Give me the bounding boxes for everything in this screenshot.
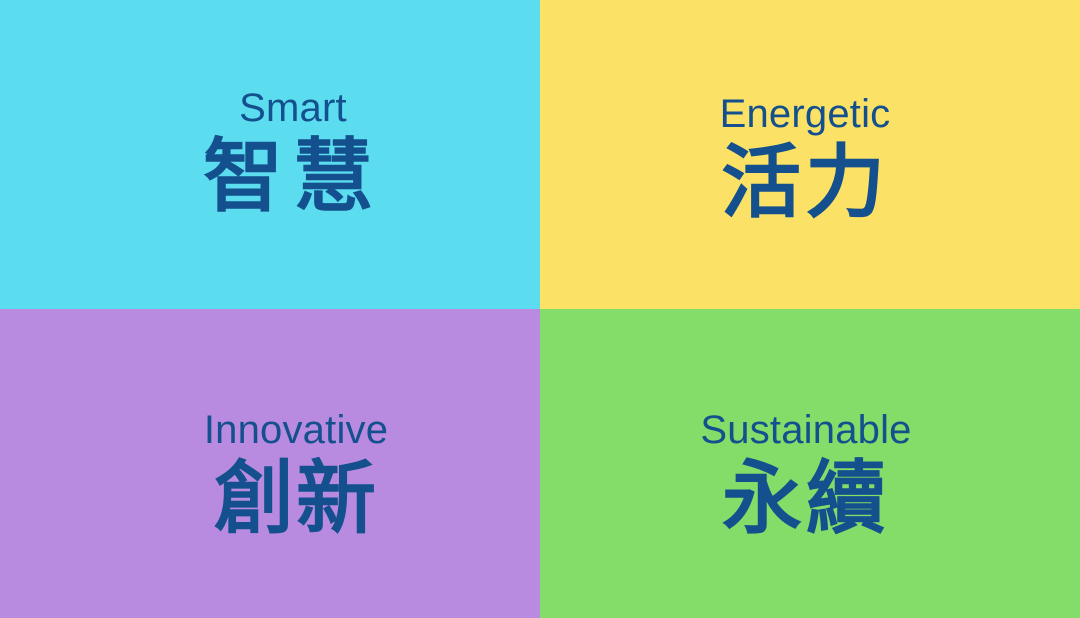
value-label-cjk: 活力 (721, 143, 889, 223)
values-grid: Smart 智慧 Energetic 活力 Innovative 創新 Sust… (0, 0, 1080, 618)
value-text-block: Energetic 活力 (540, 94, 1075, 223)
value-card-smart[interactable]: Smart 智慧 (0, 0, 540, 309)
value-label-cjk: 智慧 (203, 137, 383, 217)
value-label-cjk: 永續 (722, 459, 890, 539)
value-card-innovative[interactable]: Innovative 創新 (0, 309, 540, 618)
value-text-block: Sustainable 永續 (540, 410, 1076, 539)
value-label-cjk: 創新 (214, 459, 378, 539)
value-label-en: Innovative (204, 410, 388, 450)
value-card-sustainable[interactable]: Sustainable 永續 (540, 309, 1080, 618)
value-label-en: Smart (239, 88, 347, 128)
value-text-block: Smart 智慧 (23, 88, 540, 217)
value-label-en: Energetic (720, 94, 891, 134)
value-text-block: Innovative 創新 (26, 410, 540, 539)
value-card-energetic[interactable]: Energetic 活力 (540, 0, 1080, 309)
value-label-en: Sustainable (700, 410, 911, 450)
